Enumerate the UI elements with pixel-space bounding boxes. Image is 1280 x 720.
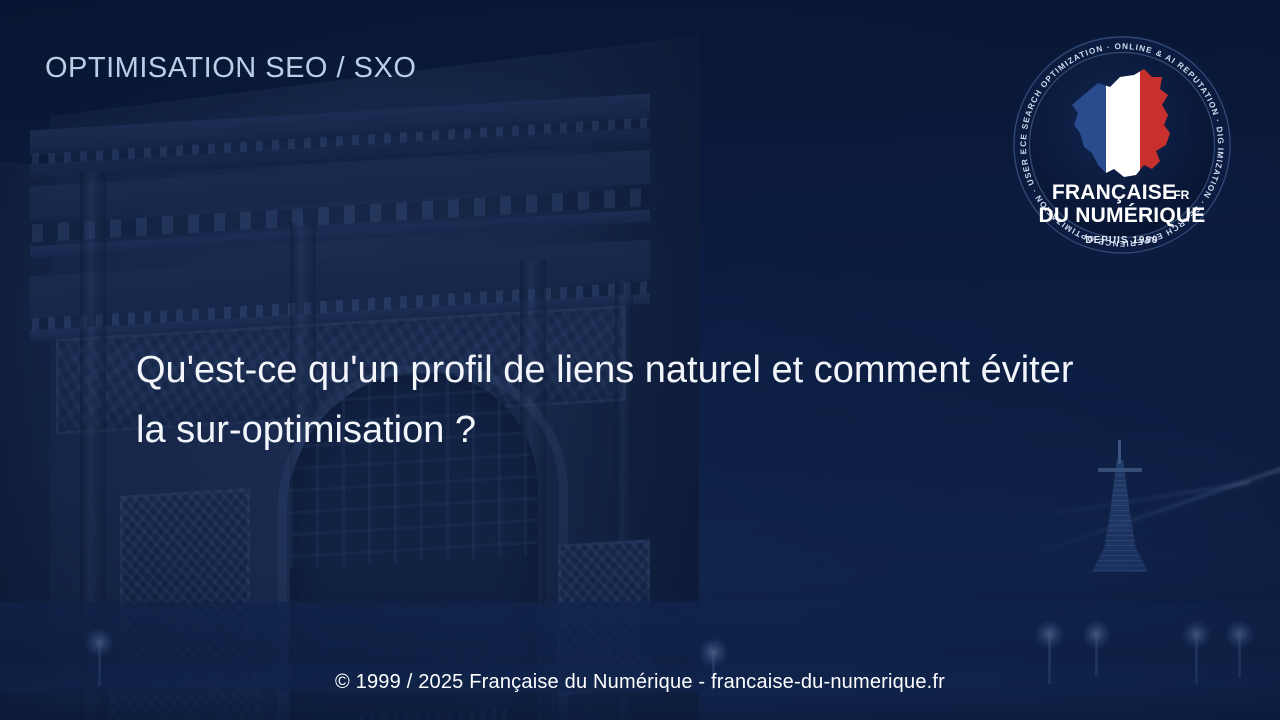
page-title: Qu'est-ce qu'un profil de liens naturel … — [136, 340, 1086, 460]
logo-brand-line1: FRANÇAISE — [1052, 181, 1176, 204]
brand-logo-francaise-du-numerique[interactable]: ARTIFICIAL INTELLIGENCE SEARCH OPTIMIZAT… — [1010, 33, 1234, 257]
presentation-slide: OPTIMISATION SEO / SXO Qu'est-ce qu'un p… — [0, 0, 1280, 720]
category-eyebrow: OPTIMISATION SEO / SXO — [45, 52, 416, 85]
copyright-footer: © 1999 / 2025 Française du Numérique - f… — [0, 671, 1280, 694]
logo-tagline: DEPUIS 1999 — [1085, 235, 1158, 246]
logo-brand-line2: DU NUMÉRIQUE — [1039, 204, 1206, 227]
logo-brand-tld: .FR — [1170, 188, 1190, 202]
